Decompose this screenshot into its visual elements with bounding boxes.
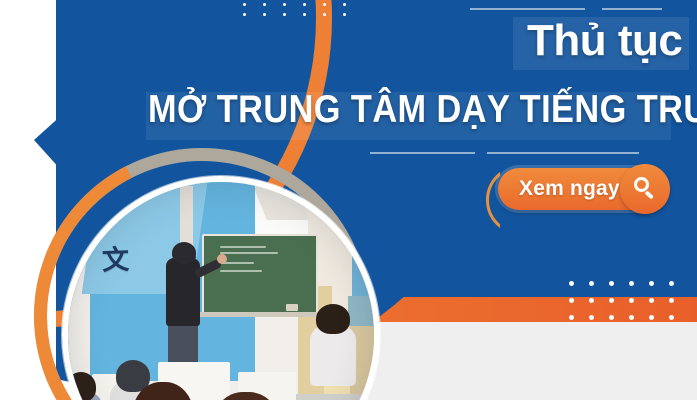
banner-headline: MỞ TRUNG TÂM DẠY TIẾNG TRUNG	[148, 88, 614, 132]
dot-grid-bottom-right	[569, 281, 689, 332]
divider-top-left	[470, 8, 585, 10]
divider-mid-left	[370, 152, 475, 154]
promo-banner: 文 路 成功	[0, 0, 697, 400]
dot-grid-top	[243, 3, 363, 23]
classroom-photo-image: 文 路 成功	[62, 176, 380, 400]
magnifier-glyph	[633, 177, 657, 201]
divider-mid-right	[487, 152, 639, 154]
classroom-photo: 文 路 成功	[62, 176, 380, 400]
divider-top-right	[602, 8, 662, 10]
xem-ngay-label: Xem ngay	[519, 177, 620, 201]
banner-kicker: Thủ tục	[527, 16, 682, 66]
search-icon[interactable]	[620, 164, 670, 214]
